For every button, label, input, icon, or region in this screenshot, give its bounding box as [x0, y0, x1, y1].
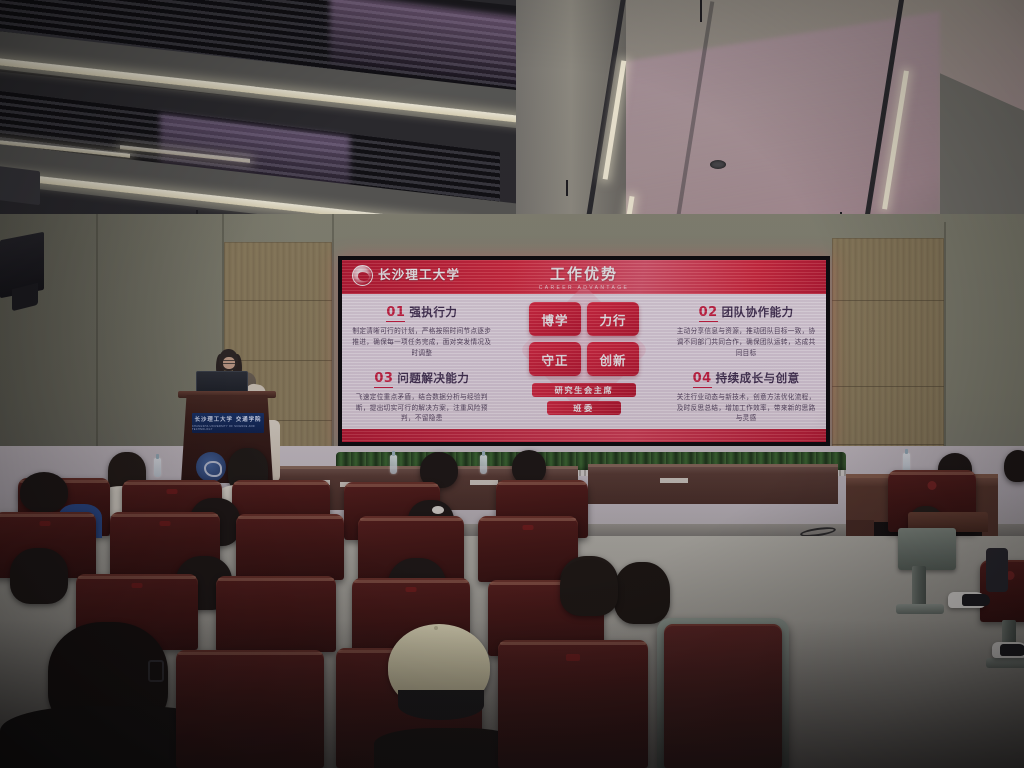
audience-head-r2-a: [20, 472, 68, 512]
ceiling-downlight-icon: [710, 160, 726, 169]
seat-trim: [360, 518, 462, 521]
center-value-label-3: 守正: [541, 350, 568, 369]
slide-title-zh: 工作优势: [550, 265, 618, 283]
seat-trim: [354, 580, 468, 583]
slide-item-04-heading: 持续成长与创意: [716, 370, 800, 386]
seat-button: [406, 587, 417, 592]
podium-sign-line1: 长沙理工大学 交通学院: [195, 415, 262, 423]
seat-armrest-right-1[interactable]: [898, 528, 956, 570]
slide-item-04-number: 04: [693, 371, 712, 388]
slide-item-01-heading: 强执行力: [409, 304, 457, 320]
slide-item-03-head: 03 问题解决能力: [350, 370, 494, 388]
seat-trim: [498, 482, 586, 485]
wall-wood-line-5: [832, 386, 944, 387]
wall-seam-1: [96, 214, 98, 484]
slide-item-03-number: 03: [374, 371, 393, 388]
seat-pedestal-right-1: [912, 566, 926, 608]
wall-wood-panel-right: [832, 238, 944, 466]
audience-head-r4-a: [10, 548, 68, 604]
slide-item-01-body: 制定清晰可行的计划，严格按照时间节点逐步推进，确保每一项任务完成，面对突发情况及…: [350, 326, 494, 359]
ac-vent: [0, 165, 40, 205]
slide-item-01: 01 强执行力 制定清晰可行的计划，严格按照时间节点逐步推进，确保每一项任务完成…: [350, 304, 494, 359]
seat-button: [523, 525, 534, 530]
center-value-box-4: 创新: [587, 342, 639, 376]
podium-crest-icon: [196, 452, 226, 482]
table-paper-5: [660, 478, 688, 483]
table-paper-3: [470, 480, 498, 485]
ceiling-hanger-1: [700, 0, 702, 22]
slide-item-01-number: 01: [386, 305, 405, 322]
seat-trim: [218, 578, 334, 581]
seat-r3-3[interactable]: [236, 514, 344, 580]
wall-wood-line-1: [224, 300, 332, 301]
seat-button: [40, 521, 51, 526]
seat-trim: [112, 514, 218, 517]
slide-item-02-body: 主动分享信息与资源，推动团队目标一致，协调不同部门共同合作，确保团队运转，达成共…: [674, 326, 818, 359]
slide-column-left: 01 强执行力 制定清晰可行的计划，严格按照时间节点逐步推进，确保每一项任务完成…: [342, 294, 502, 429]
podium-sign-line2: CHANGSHA UNIVERSITY OF SCIENCE AND TECHN…: [192, 425, 264, 431]
slide-item-04-body: 关注行业动态与新技术，创意方法优化流程，及时反思总结，增加工作效率，带来新的思路…: [674, 392, 818, 425]
seat-trim: [238, 516, 342, 519]
center-value-label-1: 博学: [541, 310, 568, 329]
shoe-right-1-sole: [962, 594, 990, 606]
slide-item-04-head: 04 持续成长与创意: [674, 370, 818, 388]
audience-head-r1-d: [512, 450, 546, 484]
wall-seam-3: [332, 214, 334, 469]
center-value-label-4: 创新: [599, 350, 626, 369]
water-bottle-2: [390, 455, 397, 474]
slide-item-02: 02 团队协作能力 主动分享信息与资源，推动团队目标一致，协调不同部门共同合作，…: [674, 304, 818, 359]
wall-seam-4: [944, 222, 946, 472]
led-screen[interactable]: 长沙理工大学 工作优势 CAREER ADVANTAGE 01 强执行力 制定清…: [338, 256, 830, 446]
seat-logo-icon: [928, 481, 937, 490]
slide-item-02-heading: 团队协作能力: [722, 304, 794, 320]
slide-item-03: 03 问题解决能力 飞速定位重点矛盾，结合数据分析与经验判断，提出切实可行的解决…: [350, 370, 494, 425]
floor-shadow-gradient: [0, 620, 1024, 768]
podium-sign: 长沙理工大学 交通学院 CHANGSHA UNIVERSITY OF SCIEN…: [192, 413, 264, 433]
center-value-box-2: 力行: [587, 302, 639, 336]
center-pill-label-1: 研究生会主席: [555, 384, 614, 396]
seat-trim: [890, 472, 974, 475]
seat-pedestal-foot-right-1: [896, 604, 944, 614]
slide-column-left-gap: [350, 359, 494, 370]
slide-column-right: 02 团队协作能力 主动分享信息与资源，推动团队目标一致，协调不同部门共同合作，…: [666, 294, 826, 429]
center-pill-1: 研究生会主席: [532, 383, 636, 397]
seat-back: [236, 514, 344, 580]
ceiling-beam: [516, 0, 626, 238]
audience-head-r1-f: [1004, 450, 1024, 482]
center-pill-2: 班委: [547, 401, 621, 415]
slide-item-01-head: 01 强执行力: [350, 304, 494, 322]
slide-item-03-heading: 问题解决能力: [397, 370, 469, 386]
center-value-label-2: 力行: [599, 310, 626, 329]
presentation-slide: 长沙理工大学 工作优势 CAREER ADVANTAGE 01 强执行力 制定清…: [342, 260, 826, 442]
auditorium-scene: 长沙理工大学 工作优势 CAREER ADVANTAGE 01 强执行力 制定清…: [0, 0, 1024, 768]
water-bottle-1: [154, 458, 161, 477]
seat-trim: [0, 514, 94, 517]
slide-item-03-body: 飞速定位重点矛盾，结合数据分析与经验判断，提出切实可行的解决方案，注重风险预判，…: [350, 392, 494, 425]
slide-column-center: 博学 力行 守正 创新 研究生会主席 班委: [502, 294, 667, 429]
seat-trim: [480, 518, 576, 521]
front-table-right: [588, 464, 838, 504]
seat-button: [167, 489, 178, 494]
seat-button: [160, 521, 171, 526]
glasses-icon: [223, 360, 235, 364]
hair-scrunchie-icon: [432, 506, 444, 514]
audience-head-foreground-c: [560, 560, 618, 616]
slide-footer-banner: [342, 429, 826, 442]
seat-trim: [346, 484, 438, 487]
seat-trim: [78, 576, 196, 579]
slide-item-04: 04 持续成长与创意 关注行业动态与新技术，创意方法优化流程，及时反思总结，增加…: [674, 370, 818, 425]
center-value-box-1: 博学: [529, 302, 581, 336]
center-value-grid: 博学 力行 守正 创新: [529, 302, 639, 376]
ceiling-hanger-2: [566, 180, 568, 196]
seat-button: [132, 583, 143, 588]
slide-content: 01 强执行力 制定清晰可行的计划，严格按照时间节点逐步推进，确保每一项任务完成…: [342, 294, 826, 429]
slide-item-02-head: 02 团队协作能力: [674, 304, 818, 322]
slide-item-02-number: 02: [699, 305, 718, 322]
water-bottle-3: [480, 455, 487, 474]
center-value-box-3: 守正: [529, 342, 581, 376]
center-pill-label-2: 班委: [573, 402, 595, 414]
audience-head-r4-e: [614, 562, 670, 624]
wall-wood-line-4: [832, 300, 944, 301]
ceiling: [0, 0, 1024, 238]
seat-trim: [124, 482, 220, 485]
seat-trim: [234, 482, 328, 485]
audience-leg-right: [986, 548, 1008, 592]
wall-wood-line-6: [832, 444, 944, 445]
slide-column-right-gap: [674, 359, 818, 370]
